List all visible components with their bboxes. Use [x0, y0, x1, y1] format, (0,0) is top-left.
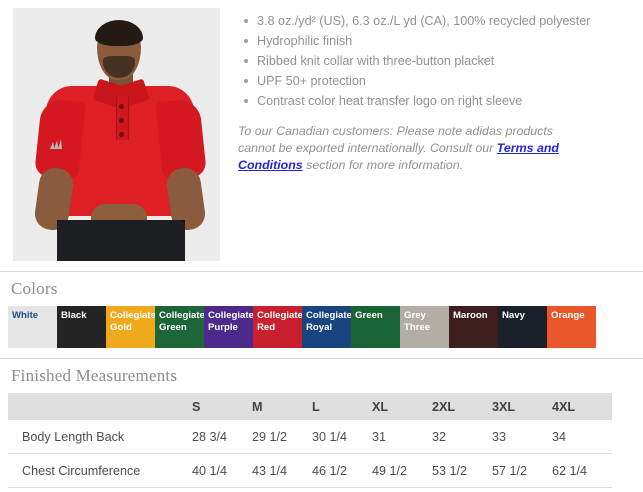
color-swatch-black[interactable]: Black — [57, 306, 106, 348]
row-label: Body Length Back — [8, 420, 192, 454]
cell-2xl: 53 1/2 — [432, 454, 492, 488]
column-header-s: S — [192, 393, 252, 420]
measurements-table: S M L XL 2XL 3XL 4XL Body Length Back 28… — [8, 393, 612, 492]
color-swatch-collegiate-purple[interactable]: Collegiate Purple — [204, 306, 253, 348]
color-swatch-green[interactable]: Green — [351, 306, 400, 348]
canadian-customers-note: To our Canadian customers: Please note a… — [238, 123, 570, 174]
cell-m: 10 — [252, 488, 312, 492]
cell-3xl: 33 — [492, 420, 552, 454]
model-pants — [57, 220, 185, 261]
swatch-label: Green — [355, 310, 398, 322]
color-swatch-orange[interactable]: Orange — [547, 306, 596, 348]
column-header-3xl: 3XL — [492, 393, 552, 420]
color-swatch-maroon[interactable]: Maroon — [449, 306, 498, 348]
cell-m: 29 1/2 — [252, 420, 312, 454]
feature-item: Ribbed knit collar with three-button pla… — [238, 53, 643, 70]
measurements-section: Finished Measurements S M L XL 2XL 3XL 4… — [0, 358, 643, 492]
shirt-button-1 — [119, 104, 124, 109]
swatch-label: Black — [61, 310, 104, 322]
feature-item: 3.8 oz./yd² (US), 6.3 oz./L yd (CA), 100… — [238, 13, 643, 30]
cell-2xl: 32 — [432, 420, 492, 454]
feature-list: 3.8 oz./yd² (US), 6.3 oz./L yd (CA), 100… — [238, 13, 643, 110]
adidas-logo-icon — [50, 138, 62, 149]
shirt-button-2 — [119, 118, 124, 123]
color-swatch-collegiate-green[interactable]: Collegiate Green — [155, 306, 204, 348]
table-row: Sleeve Length 9 1/2 10 10 1/4 10 1/2 10 … — [8, 488, 612, 492]
table-row: Chest Circumference 40 1/4 43 1/4 46 1/2… — [8, 454, 612, 488]
swatch-label: Collegiate Gold — [110, 310, 153, 333]
column-header-l: L — [312, 393, 372, 420]
swatch-label: Collegiate Royal — [306, 310, 349, 333]
cell-xl: 31 — [372, 420, 432, 454]
cell-xl: 49 1/2 — [372, 454, 432, 488]
cell-3xl: 57 1/2 — [492, 454, 552, 488]
color-swatch-collegiate-red[interactable]: Collegiate Red — [253, 306, 302, 348]
swatch-label: Collegiate Green — [159, 310, 202, 333]
color-swatch-row: White Black Collegiate Gold Collegiate G… — [8, 306, 544, 348]
product-details: 3.8 oz./yd² (US), 6.3 oz./L yd (CA), 100… — [220, 8, 643, 186]
cell-l: 46 1/2 — [312, 454, 372, 488]
swatch-label: Maroon — [453, 310, 496, 322]
product-image[interactable] — [13, 8, 220, 261]
cell-l: 30 1/4 — [312, 420, 372, 454]
product-overview: 3.8 oz./yd² (US), 6.3 oz./L yd (CA), 100… — [0, 0, 643, 261]
cell-3xl: 11 1/4 — [492, 488, 552, 492]
colors-heading: Colors — [8, 272, 635, 306]
column-header-4xl: 4XL — [552, 393, 612, 420]
cell-xl: 10 1/2 — [372, 488, 432, 492]
cell-l: 10 1/4 — [312, 488, 372, 492]
cell-4xl: 62 1/4 — [552, 454, 612, 488]
column-header-m: M — [252, 393, 312, 420]
product-detail-page: 3.8 oz./yd² (US), 6.3 oz./L yd (CA), 100… — [0, 0, 643, 492]
cell-s: 40 1/4 — [192, 454, 252, 488]
colors-section: Colors White Black Collegiate Gold Colle… — [0, 271, 643, 348]
cell-s: 9 1/2 — [192, 488, 252, 492]
cell-4xl: 34 — [552, 420, 612, 454]
measurements-heading: Finished Measurements — [8, 359, 635, 393]
color-swatch-grey-three[interactable]: Grey Three — [400, 306, 449, 348]
table-body: Body Length Back 28 3/4 29 1/2 30 1/4 31… — [8, 420, 612, 492]
color-swatch-navy[interactable]: Navy — [498, 306, 547, 348]
column-header-2xl: 2XL — [432, 393, 492, 420]
feature-item: UPF 50+ protection — [238, 73, 643, 90]
cell-m: 43 1/4 — [252, 454, 312, 488]
swatch-label: White — [12, 310, 55, 322]
row-label: Chest Circumference — [8, 454, 192, 488]
feature-item: Contrast color heat transfer logo on rig… — [238, 93, 643, 110]
feature-item: Hydrophilic finish — [238, 33, 643, 50]
cell-2xl: 10 3/4 — [432, 488, 492, 492]
table-header: S M L XL 2XL 3XL 4XL — [8, 393, 612, 420]
swatch-label: Grey Three — [404, 310, 447, 333]
column-header-blank — [8, 393, 192, 420]
swatch-label: Collegiate Red — [257, 310, 300, 333]
swatch-label: Collegiate Purple — [208, 310, 251, 333]
swatch-label: Orange — [551, 310, 594, 322]
cell-s: 28 3/4 — [192, 420, 252, 454]
cell-4xl: 11 1/2 — [552, 488, 612, 492]
column-header-xl: XL — [372, 393, 432, 420]
note-text-after: section for more information. — [303, 158, 463, 172]
shirt-button-3 — [119, 132, 124, 137]
color-swatch-white[interactable]: White — [8, 306, 57, 348]
row-label: Sleeve Length — [8, 488, 192, 492]
color-swatch-collegiate-royal[interactable]: Collegiate Royal — [302, 306, 351, 348]
color-swatch-collegiate-gold[interactable]: Collegiate Gold — [106, 306, 155, 348]
swatch-label: Navy — [502, 310, 545, 322]
table-header-row: S M L XL 2XL 3XL 4XL — [8, 393, 612, 420]
table-row: Body Length Back 28 3/4 29 1/2 30 1/4 31… — [8, 420, 612, 454]
